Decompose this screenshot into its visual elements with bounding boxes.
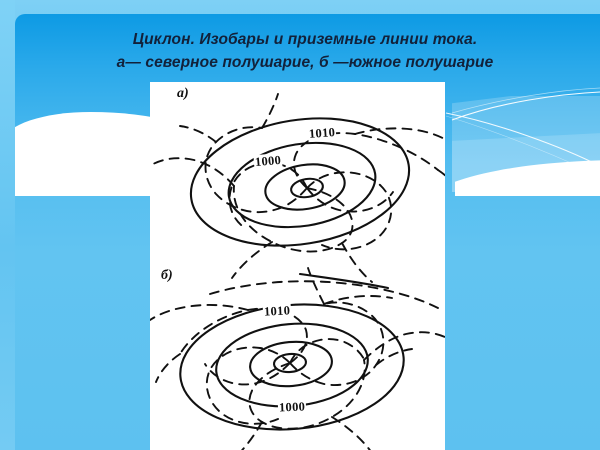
title-line-1: Циклон. Изобары и приземные линии тока. (133, 31, 478, 48)
panel-b-streamlines (150, 268, 445, 450)
panel-a-isobars (182, 104, 419, 261)
panel-letter-a: а) (177, 86, 189, 102)
cyclone-figure: а) б) 1010 1000 1010 1000 (150, 82, 445, 450)
slide-left-frame-strip (0, 0, 15, 450)
isobar-label-a-1000: 1000 (253, 153, 282, 170)
panel-a-streamlines (150, 94, 445, 282)
isobar-label-a-1010: 1010 (308, 125, 337, 142)
cyclone-diagram-svg (150, 82, 445, 450)
slide: Циклон. Изобары и приземные линии тока. … (0, 0, 600, 450)
panel-letter-b: б) (161, 268, 173, 284)
isobar-label-b-1000: 1000 (278, 400, 307, 416)
isobar-label-b-1010: 1010 (263, 303, 292, 319)
page-title: Циклон. Изобары и приземные линии тока. … (22, 28, 588, 74)
title-line-2: а— северное полушарие, б —южное полушари… (22, 51, 588, 74)
